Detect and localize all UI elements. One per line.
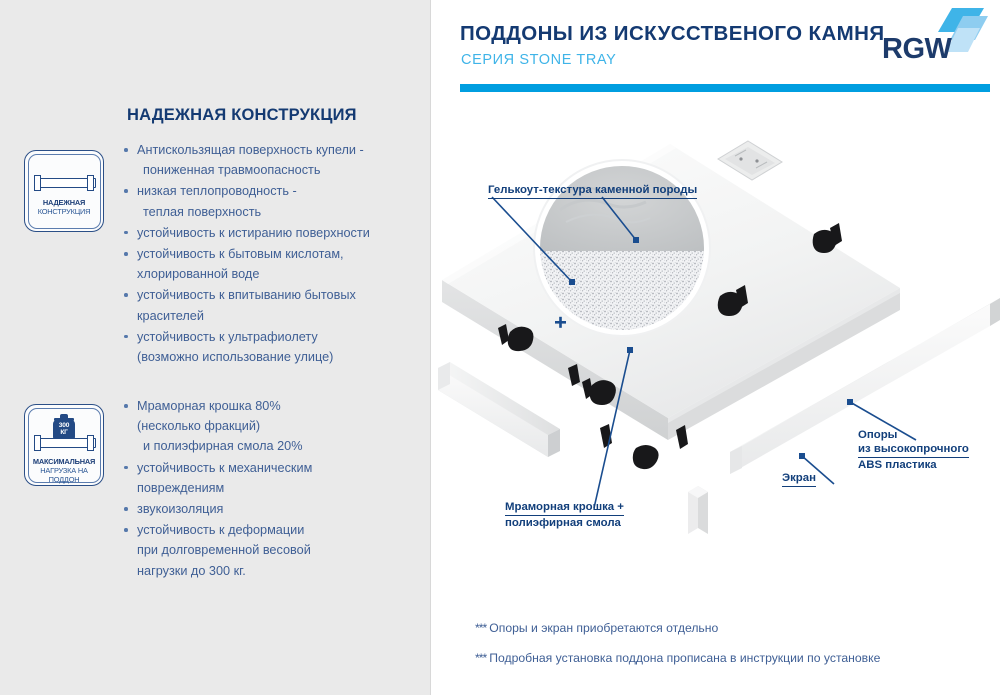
header-rule: [460, 84, 990, 92]
list-item: Антискользящая поверхность купели - пони…: [123, 140, 423, 180]
shower-tray-diagram: [430, 100, 1000, 620]
list-item: низкая теплопроводность - теплая поверхн…: [123, 181, 423, 221]
sidebar-heading: НАДЕЖНАЯ КОНСТРУКЦИЯ: [127, 106, 357, 125]
callout-marble-resin: Мраморная крошка + полиэфирная смола: [505, 500, 624, 530]
badge-caption: НАДЕЖНАЯ КОНСТРУКЦИЯ: [25, 198, 103, 216]
badge-caption-line1: НАДЕЖНАЯ: [25, 198, 103, 207]
badge-caption-line1: МАКСИМАЛЬНАЯ: [25, 457, 103, 466]
badge-inner-border: [28, 154, 101, 229]
callout-gelcoat: Гелькоут-текстура каменной породы: [488, 183, 697, 199]
corner-bracket-piece: [688, 486, 708, 534]
list-item: устойчивость к впитыванию бытовых красит…: [123, 285, 423, 325]
list-item: устойчивость к механическим повреждениям: [123, 458, 423, 498]
list-item: устойчивость к ультрафиолету (возможно и…: [123, 327, 423, 367]
list-item: устойчивость к деформации при долговреме…: [123, 520, 423, 581]
screen-panel-left: [438, 362, 560, 457]
feature-list-construction: Антискользящая поверхность купели - пони…: [123, 140, 423, 368]
weight-value: 300: [59, 422, 69, 429]
badge-max-load: 300 КГ МАКСИМАЛЬНАЯ НАГРУЗКА НА ПОДДОН: [24, 404, 104, 486]
tray-icon: [34, 435, 94, 449]
product-info-sheet: ПОДДОНЫ ИЗ ИСКУССТВЕНОГО КАМНЯ СЕРИЯ STO…: [0, 0, 1000, 695]
feature-list-material: Мраморная крошка 80% (несколько фракций)…: [123, 396, 423, 582]
rgw-logo: RGW: [880, 6, 988, 72]
footnote: ***Опоры и экран приобретаются отдельно: [475, 620, 880, 636]
page-header: ПОДДОНЫ ИЗ ИСКУССТВЕНОГО КАМНЯ СЕРИЯ STO…: [430, 0, 1000, 100]
page-subtitle: СЕРИЯ STONE TRAY: [461, 52, 616, 68]
footnote: ***Подробная установка поддона прописана…: [475, 650, 880, 666]
list-item: звукоизоляция: [123, 499, 423, 519]
list-item: Мраморная крошка 80% (несколько фракций)…: [123, 396, 423, 457]
tray-icon: [34, 175, 94, 189]
badge-caption-line2: НАГРУЗКА НА ПОДДОН: [25, 466, 103, 484]
badge-reliable-construction: НАДЕЖНАЯ КОНСТРУКЦИЯ: [24, 150, 104, 232]
badge-caption: МАКСИМАЛЬНАЯ НАГРУЗКА НА ПОДДОН: [25, 457, 103, 484]
list-item: устойчивость к бытовым кислотам, хлориро…: [123, 244, 423, 284]
footnotes: ***Опоры и экран приобретаются отдельно …: [475, 620, 880, 680]
callout-abs-supports: Опоры из высокопрочного ABS пластика: [858, 428, 969, 472]
callout-screen: Экран: [782, 471, 816, 487]
product-illustration: Гелькоут-текстура каменной породы Мрамор…: [430, 100, 1000, 620]
badge-caption-line2: КОНСТРУКЦИЯ: [25, 207, 103, 216]
logo-wordmark: RGW: [882, 33, 951, 66]
drain-grate-icon: [718, 141, 782, 180]
list-item: устойчивость к истиранию поверхности: [123, 223, 423, 243]
page-title: ПОДДОНЫ ИЗ ИСКУССТВЕНОГО КАМНЯ: [460, 22, 885, 46]
